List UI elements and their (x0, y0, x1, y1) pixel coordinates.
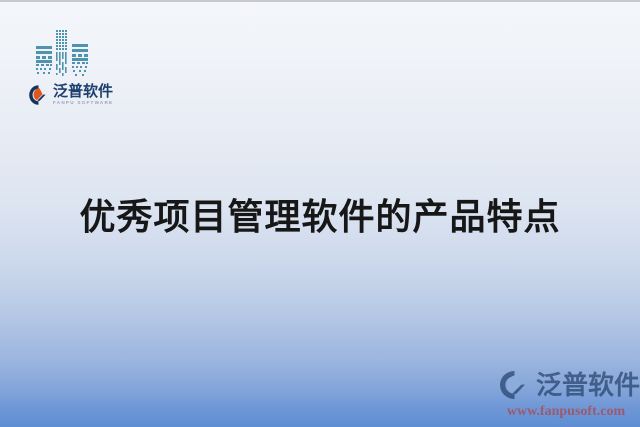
brand-wordmark: 泛普软件 FANPU SOFTWARE (28, 80, 123, 110)
page-title: 优秀项目管理软件的产品特点 (0, 188, 640, 240)
slide-canvas: 泛普软件 FANPU SOFTWARE 优秀项目管理软件的产品特点 泛普软件 w… (0, 0, 640, 427)
watermark-swoosh-logo-icon (498, 369, 532, 401)
watermark: 泛普软件 www.fanpusoft.com (498, 367, 634, 421)
fanpu-swoosh-logo-icon (28, 84, 50, 106)
pixel-city-skyline-icon (32, 28, 94, 78)
brand-name-en: FANPU SOFTWARE (53, 101, 113, 106)
watermark-url: www.fanpusoft.com (498, 404, 634, 420)
brand-logo-block: 泛普软件 FANPU SOFTWARE (28, 28, 123, 112)
watermark-name-cn: 泛普软件 (536, 372, 640, 398)
brand-name-cn: 泛普软件 (53, 84, 113, 99)
